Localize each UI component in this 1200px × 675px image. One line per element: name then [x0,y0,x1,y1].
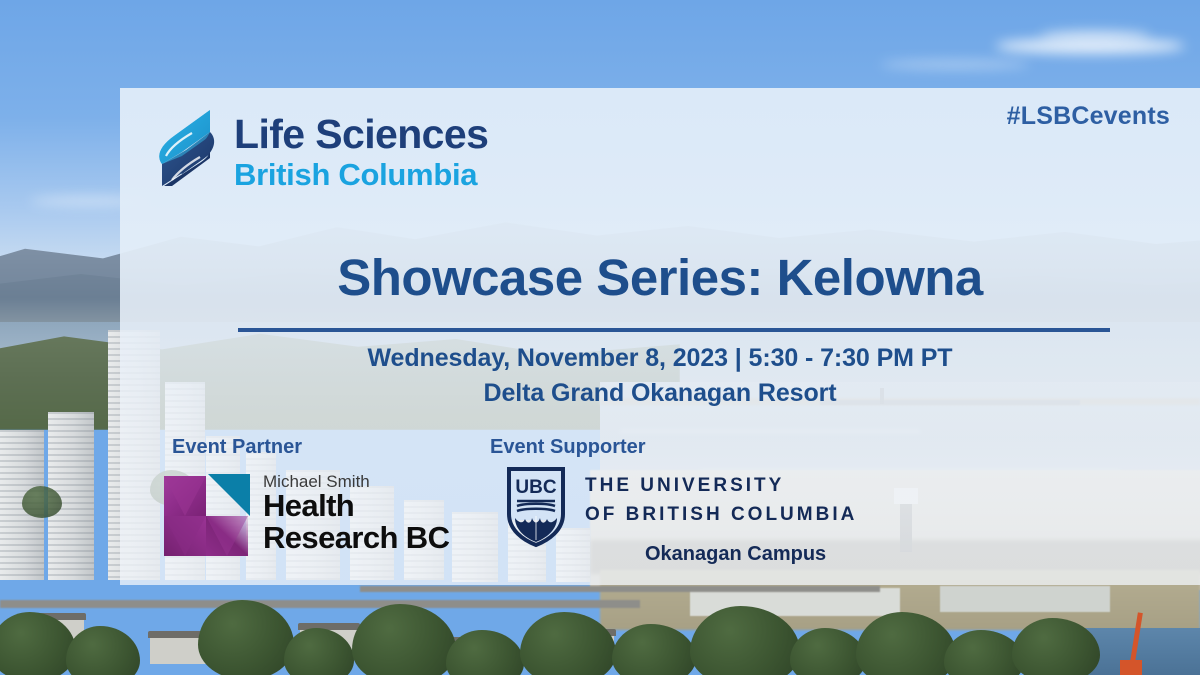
ubc-logo: UBC THE UNIVERSITY OF BRITISH COLUMBIA O… [505,466,857,566]
ubc-wordmark: THE UNIVERSITY OF BRITISH COLUMBIA Okana… [585,466,857,566]
road [0,600,640,608]
event-supporter-label: Event Supporter [490,436,646,459]
lsbc-wordmark: Life Sciences British Columbia [234,114,488,190]
tree [198,600,294,675]
event-hashtag: #LSBCevents [1007,102,1170,131]
road [360,586,880,592]
ubc-wordmark-line1: THE UNIVERSITY [585,475,857,497]
event-title: Showcase Series: Kelowna [120,248,1200,307]
ubc-shield-text: UBC [515,477,556,498]
tree [66,626,140,675]
warehouse [940,586,1110,612]
michael-smith-blocks-icon [162,468,254,558]
tree [22,486,62,518]
event-details: Wednesday, November 8, 2023 | 5:30 - 7:3… [120,344,1200,408]
lsbc-wordmark-line2: British Columbia [234,159,488,190]
construction-crane-base [1120,660,1142,675]
lsbc-helix-ribbon-icon [152,106,220,198]
cloud [880,60,1030,69]
michael-smith-wordmark: Michael Smith Health Research BC [263,473,449,554]
michael-smith-line3: Research BC [263,522,449,554]
michael-smith-line2: Health [263,490,449,522]
ubc-campus-label: Okanagan Campus [645,543,857,566]
title-divider [238,328,1110,332]
michael-smith-health-research-bc-logo: Michael Smith Health Research BC [162,468,449,558]
ubc-wordmark-line2: OF BRITISH COLUMBIA [585,504,857,526]
event-partner-label: Event Partner [172,436,302,459]
ubc-shield-icon: UBC [505,466,567,548]
event-datetime: Wednesday, November 8, 2023 | 5:30 - 7:3… [120,344,1200,373]
content-panel: #LSBCevents Lif [120,88,1200,585]
cloud [1040,30,1150,42]
tree [352,604,456,675]
lsbc-wordmark-line1: Life Sciences [234,114,488,155]
event-venue: Delta Grand Okanagan Resort [120,379,1200,408]
lsbc-logo: Life Sciences British Columbia [152,106,488,198]
tree [612,624,696,675]
tree [790,628,866,675]
